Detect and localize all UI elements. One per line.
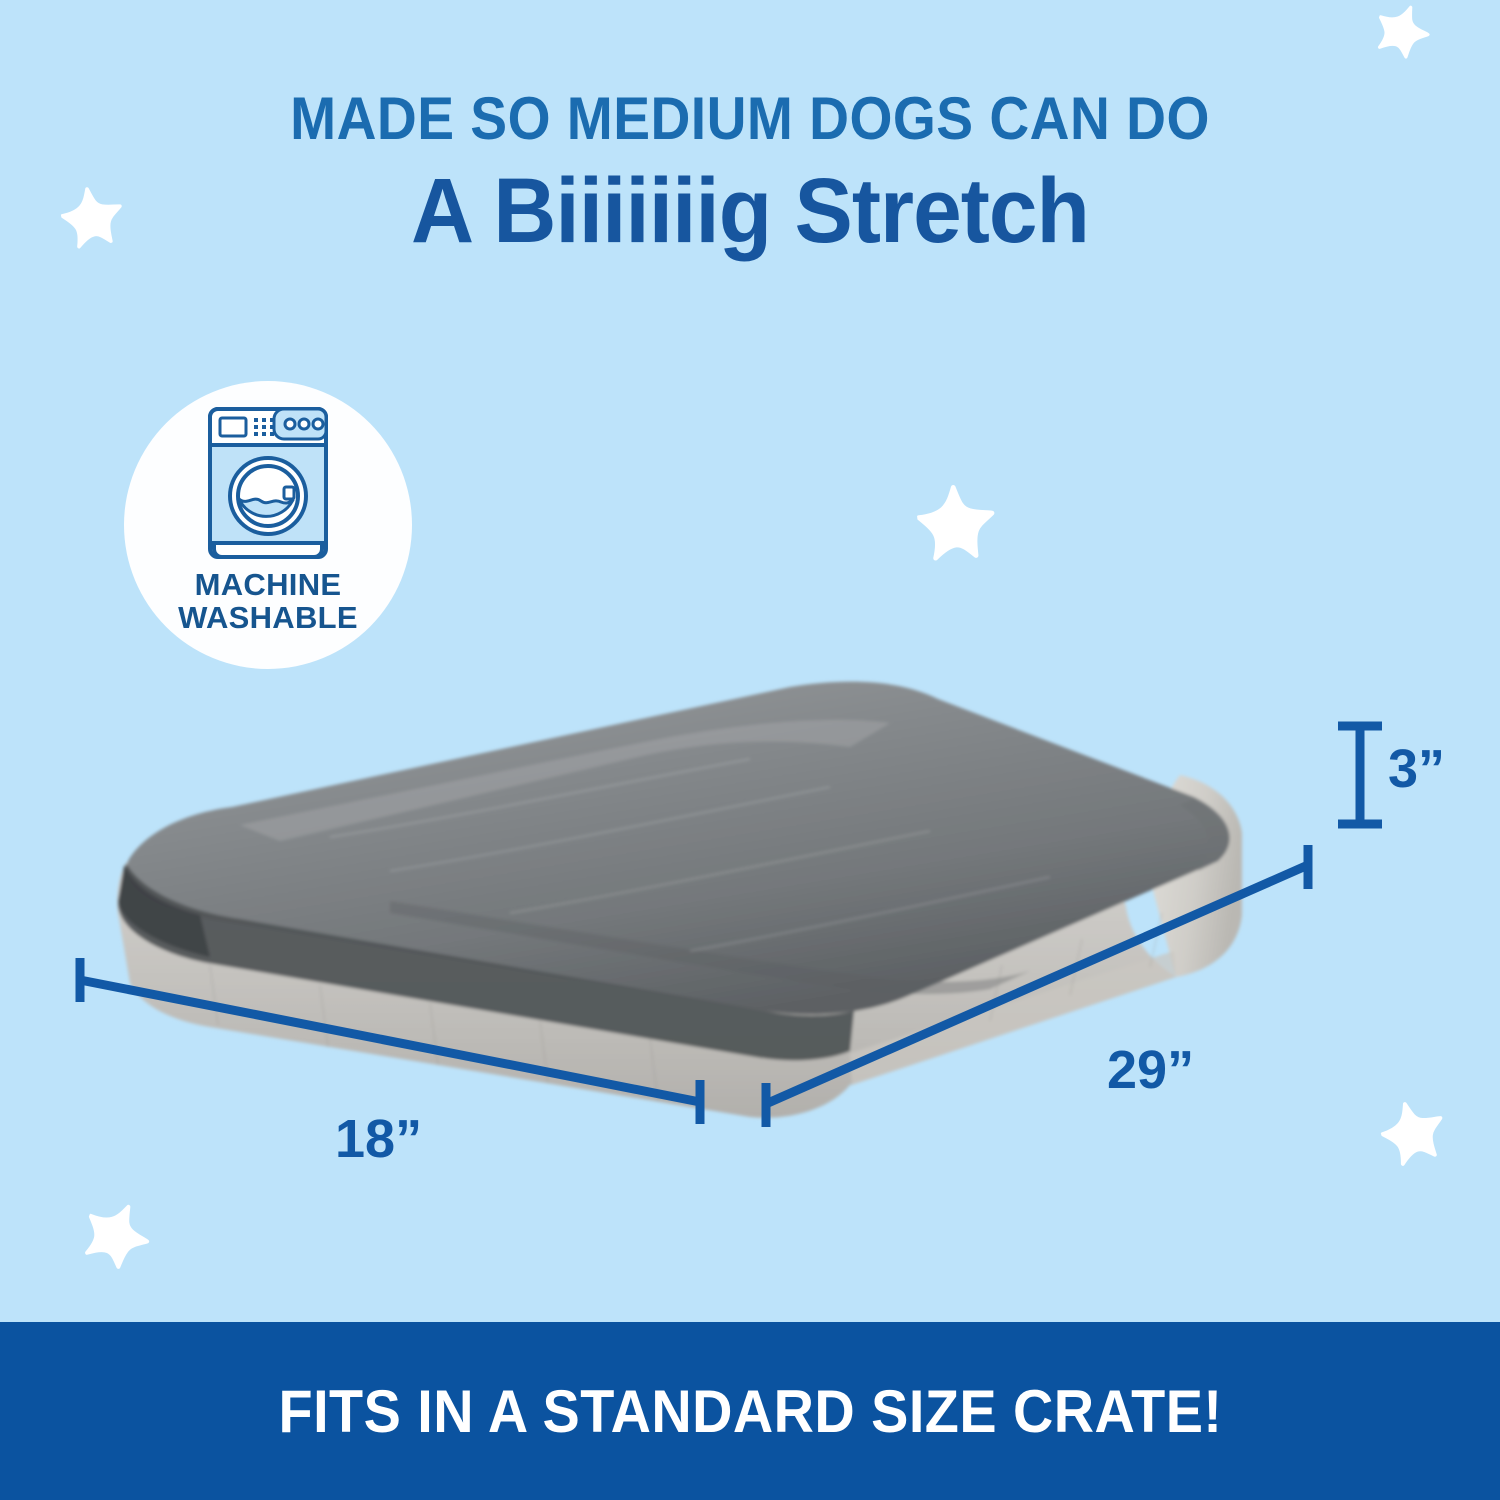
headline-eyebrow: MADE SO MEDIUM DOGS CAN DO bbox=[60, 88, 1440, 149]
washing-machine-icon bbox=[202, 403, 334, 563]
bottom-banner: FITS IN A STANDARD SIZE CRATE! bbox=[0, 1322, 1500, 1500]
badge-label-line1: MACHINE bbox=[178, 569, 358, 602]
star-top-right-icon bbox=[1369, 0, 1437, 65]
badge-label-line2: WASHABLE bbox=[178, 602, 358, 635]
star-bottom-right-icon bbox=[1374, 1092, 1455, 1173]
machine-washable-badge: MACHINE WASHABLE bbox=[124, 381, 412, 669]
headline-main: A Biiiiiiig Stretch bbox=[38, 163, 1463, 261]
headline-block: MADE SO MEDIUM DOGS CAN DO A Biiiiiiig S… bbox=[0, 88, 1500, 261]
product-infographic: MADE SO MEDIUM DOGS CAN DO A Biiiiiiig S… bbox=[0, 0, 1500, 1500]
dimension-label-length: 29” bbox=[1107, 1039, 1194, 1101]
badge-label: MACHINE WASHABLE bbox=[178, 569, 358, 635]
banner-text: FITS IN A STANDARD SIZE CRATE! bbox=[278, 1377, 1222, 1446]
dimension-label-width: 18” bbox=[335, 1108, 422, 1170]
dimension-label-height: 3” bbox=[1388, 738, 1445, 800]
star-bottom-left-icon bbox=[74, 1192, 160, 1278]
star-mid-center-icon bbox=[914, 480, 1000, 566]
